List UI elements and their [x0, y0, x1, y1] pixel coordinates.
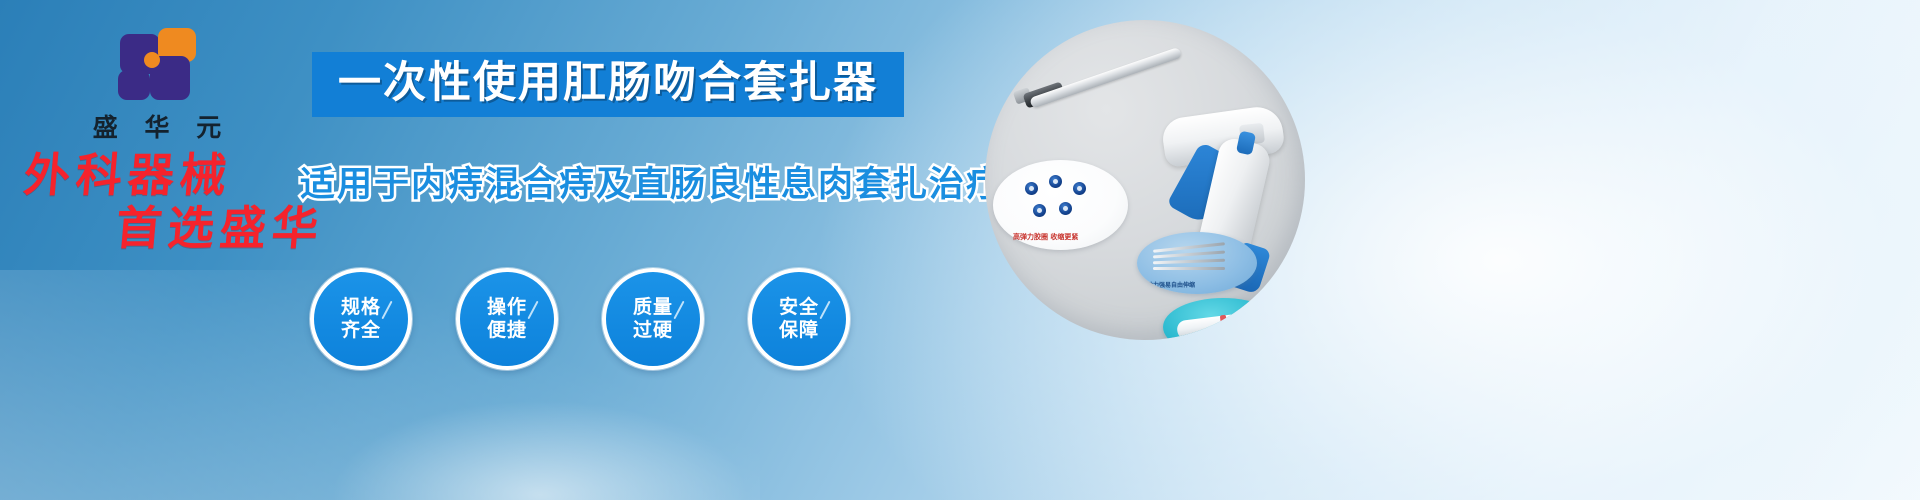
- feature-badge-1-line1: 规格: [341, 296, 381, 319]
- inset-rubber-bands: 高弹力胶圈 收缩更紧: [993, 160, 1128, 250]
- needle-icon: [1153, 250, 1225, 258]
- feature-badge-3-line2: 过硬: [633, 319, 673, 342]
- needle-icon: [1153, 267, 1225, 270]
- feature-badge-3-line1: 质量: [633, 296, 673, 319]
- feature-badge-3[interactable]: 质量 过硬: [602, 268, 704, 370]
- rubber-band-icon: [1049, 175, 1062, 188]
- feature-badge-4[interactable]: 安全 保障: [748, 268, 850, 370]
- headline-title-bar: 一次性使用肛肠吻合套扎器: [312, 52, 904, 117]
- headline-subtitle: 适用于内痔混合痔及直肠良性息肉套扎治疗: [300, 156, 1003, 207]
- rubber-band-icon: [1073, 182, 1086, 195]
- feature-badge-2-line2: 便捷: [487, 319, 527, 342]
- rubber-band-icon: [1025, 182, 1038, 195]
- inset-bands-caption: 高弹力胶圈 收缩更紧: [1013, 232, 1078, 242]
- feature-badge-list: 规格 齐全 操作 便捷 质量 过硬 安全 保障: [310, 268, 850, 370]
- feature-badge-2-line1: 操作: [487, 296, 527, 319]
- product-photo: 高弹力胶圈 收缩更紧 活动力强易自由伸缩: [985, 20, 1305, 340]
- inset-needles: 活动力强易自由伸缩: [1137, 232, 1257, 294]
- background-glow: [330, 400, 750, 500]
- brand-name: 盛 华 元: [62, 108, 252, 144]
- inset-device-closeup: [1163, 298, 1283, 340]
- feature-badge-2[interactable]: 操作 便捷: [456, 268, 558, 370]
- rubber-band-icon: [1033, 204, 1046, 217]
- slash-accent-icon: [819, 301, 830, 320]
- slash-accent-icon: [673, 301, 684, 320]
- logo-mark-icon: [114, 26, 200, 102]
- feature-badge-4-line2: 保障: [779, 319, 819, 342]
- needle-icon: [1153, 259, 1225, 265]
- promo-banner: 盛 华 元 外科器械 首选盛华 一次性使用肛肠吻合套扎器 适用于内痔混合痔及直肠…: [0, 0, 1920, 500]
- slogan-line-2: 首选盛华: [114, 204, 356, 252]
- brand-logo[interactable]: 盛 华 元: [62, 26, 252, 144]
- feature-badge-4-line1: 安全: [779, 296, 819, 319]
- device-barrel: [1029, 47, 1182, 109]
- slash-accent-icon: [381, 301, 392, 320]
- rubber-band-icon: [1059, 202, 1072, 215]
- page-title: 一次性使用肛肠吻合套扎器: [338, 59, 878, 107]
- slash-accent-icon: [527, 301, 538, 320]
- feature-badge-1-line2: 齐全: [341, 319, 381, 342]
- inset-needles-caption: 活动力强易自由伸缩: [1141, 280, 1195, 289]
- feature-badge-1[interactable]: 规格 齐全: [310, 268, 412, 370]
